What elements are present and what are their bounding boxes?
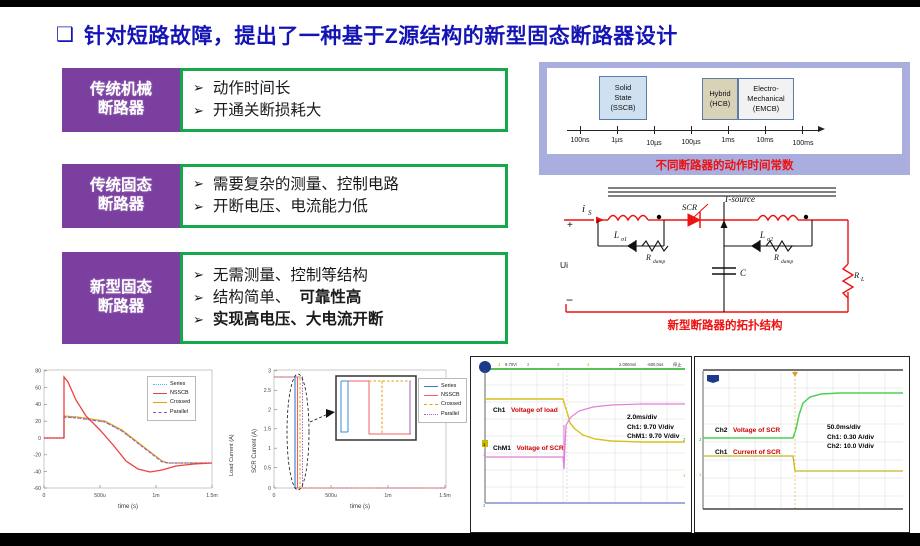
scope1-ch1-text: Voltage of load — [511, 407, 558, 414]
legend-item: NSSCB — [424, 391, 461, 400]
svg-text:-40: -40 — [34, 470, 42, 476]
legend-label: Series — [170, 380, 185, 389]
category-line2: 断路器 — [98, 100, 145, 119]
bullet-point: ➢ 结构简单、可靠性高 — [193, 288, 499, 308]
legend-label: Parallel — [170, 408, 188, 417]
category-label-conventional-solid-state: 传统固态 断路器 — [62, 164, 180, 228]
svg-text:40: 40 — [35, 402, 41, 408]
svg-text:−: − — [566, 293, 573, 307]
svg-text:S: S — [588, 209, 592, 217]
svg-text:500u: 500u — [325, 493, 337, 499]
timing-box-emcb: Electro- Mechanical (EMCB) — [738, 78, 794, 120]
bullet-point: ➢ 无需测量、控制等结构 — [193, 266, 499, 286]
comparison-row-new-solid-state: 新型固态 断路器 ➢ 无需测量、控制等结构 ➢ 结构简单、可靠性高 ➢ 实现高电… — [62, 252, 508, 344]
svg-text:R: R — [645, 253, 651, 262]
scope2-label-ch1: Ch1 Current of SCR — [715, 449, 781, 456]
timing-axis-arrow-icon — [818, 126, 825, 132]
arrow-bullet-icon: ➢ — [193, 80, 204, 97]
hcb-line2: (HCB) — [710, 99, 731, 109]
svg-text:1m: 1m — [384, 493, 391, 499]
svg-text:1.5m: 1.5m — [206, 493, 218, 499]
svg-text:20: 20 — [35, 419, 41, 425]
bullet-point: ➢ 开通关断损耗大 — [193, 101, 499, 121]
svg-text:60: 60 — [35, 385, 41, 391]
category-label-new-solid-state: 新型固态 断路器 — [62, 252, 180, 344]
svg-text:Ui: Ui — [560, 260, 568, 270]
svg-text:i: i — [582, 203, 585, 215]
scope2-ch1-name: Ch1 — [715, 449, 727, 456]
svg-text:9.70V/: 9.70V/ — [505, 362, 518, 367]
svg-text:0: 0 — [43, 493, 46, 499]
axis-tick-label: 100ns — [570, 137, 589, 144]
svg-text:SCR: SCR — [682, 202, 698, 212]
axis-tick — [654, 126, 655, 134]
points-new-solid-state: ➢ 无需测量、控制等结构 ➢ 结构简单、可靠性高 ➢ 实现高电压、大电流开断 — [180, 252, 508, 344]
svg-text:L: L — [613, 230, 619, 240]
chart1-svg: 80 60 40 20 0 -20 -40 -60 0 500u 1m — [10, 356, 232, 533]
scope1-label-ch1: Ch1 Voltage of load — [493, 407, 558, 414]
scope1-label-chm1: ChM1 Voltage of SCR — [493, 445, 564, 452]
legend-item: Crossed — [424, 400, 461, 409]
axis-tick — [691, 126, 692, 134]
axis-tick-label: 1µs — [611, 137, 622, 144]
bullet-point: ➢ 需要复杂的测量、控制电路 — [193, 175, 499, 195]
points-conventional-solid-state: ➢ 需要复杂的测量、控制电路 ➢ 开断电压、电流能力低 — [180, 164, 508, 228]
arrow-bullet-icon: ➢ — [193, 176, 204, 193]
axis-tick — [728, 126, 729, 134]
scope2-ch2-scale: Ch2: 10.0 V/div — [827, 442, 874, 452]
legend-swatch — [153, 393, 167, 394]
legend-swatch — [153, 384, 167, 385]
chart1-ylabel: Load Current (A) — [229, 434, 235, 476]
axis-tick — [802, 126, 803, 134]
sscb-line3: (SSCB) — [610, 103, 635, 113]
scope2-svg: 2 1 — [695, 357, 909, 532]
legend-swatch — [153, 412, 167, 413]
legend-swatch — [424, 386, 438, 387]
svg-text:2: 2 — [268, 407, 271, 413]
legend-swatch — [424, 395, 438, 396]
svg-text:1m: 1m — [152, 493, 159, 499]
svg-text:0: 0 — [38, 436, 41, 442]
scope1-ch1-scale: Ch1: 9.70 V/div — [627, 423, 679, 433]
scope1-chm1-name: ChM1 — [493, 445, 511, 452]
emcb-line2: Mechanical — [747, 94, 784, 104]
scope1-timebase: 2.0ms/div — [627, 413, 679, 423]
svg-text:σ2: σ2 — [767, 237, 773, 243]
scope2-ch1-text: Current of SCR — [733, 449, 781, 456]
points-mechanical: ➢ 动作时间长 ➢ 开通关断损耗大 — [180, 68, 508, 132]
bullet-text-bold: 可靠性高 — [299, 288, 361, 308]
svg-text:-20: -20 — [34, 453, 42, 459]
svg-text:R: R — [853, 270, 860, 280]
legend-item: Series — [153, 380, 190, 389]
axis-tick-label: 1ms — [721, 137, 734, 144]
svg-text:0: 0 — [273, 493, 276, 499]
scope2-label-ch2: Ch2 Voltage of SCR — [715, 427, 780, 434]
category-line1: 传统机械 — [90, 81, 152, 100]
svg-text:2.000ms/: 2.000ms/ — [619, 362, 637, 367]
chart2-ylabel: SCR Current (A) — [252, 429, 258, 473]
bullet-text: 开通关断损耗大 — [213, 101, 322, 121]
axis-tick — [580, 126, 581, 134]
legend-label: NSSCB — [441, 391, 460, 400]
timing-box-sscb: Solid State (SSCB) — [599, 76, 647, 120]
scope2-ch2-name: Ch2 — [715, 427, 727, 434]
bullet-text: 需要复杂的测量、控制电路 — [213, 175, 399, 195]
svg-text:σ1: σ1 — [621, 237, 627, 243]
timing-box-hcb: Hybrid (HCB) — [702, 78, 738, 120]
axis-tick — [617, 126, 618, 134]
scope1-ch1-name: Ch1 — [493, 407, 505, 414]
timing-panel-caption: 不同断路器的动作时间常数 — [539, 157, 910, 173]
timing-axis-line — [567, 130, 820, 131]
arrow-bullet-icon: ➢ — [193, 103, 204, 120]
chart-scr-current: 3 2.5 2 1.5 1 0.5 0 0 500u 1m 1.5m — [238, 356, 464, 533]
svg-text:1.5: 1.5 — [264, 427, 271, 433]
timing-chart-area: Solid State (SSCB) Hybrid (HCB) Electro-… — [547, 68, 902, 154]
bullet-text: 动作时间长 — [213, 79, 291, 99]
legend-item: NSSCB — [153, 389, 190, 398]
svg-text:T-source: T-source — [724, 194, 755, 204]
svg-text:+: + — [567, 220, 573, 231]
legend-item: Parallel — [153, 408, 190, 417]
emcb-line3: (EMCB) — [753, 104, 779, 114]
svg-text:L: L — [759, 230, 765, 240]
axis-tick-label: 100µs — [681, 139, 700, 146]
comparison-row-conventional-solid-state: 传统固态 断路器 ➢ 需要复杂的测量、控制电路 ➢ 开断电压、电流能力低 — [62, 164, 508, 228]
svg-text:3: 3 — [268, 369, 271, 375]
legend-swatch — [424, 414, 438, 415]
emcb-line1: Electro- — [753, 84, 778, 94]
legend-label: NSSCB — [170, 389, 189, 398]
svg-text:-60: -60 — [34, 486, 42, 492]
svg-text:damp: damp — [653, 259, 665, 265]
scope2-timebase: 50.0ms/div — [827, 423, 874, 433]
oscilloscope-screenshot-current: 2 1 Ch2 Voltage of SCR Ch1 Current of SC… — [694, 356, 910, 533]
scope1-chm1-scale: ChM1: 9.70 V/div — [627, 432, 679, 442]
category-line1: 新型固态 — [90, 279, 152, 298]
svg-text:停止: 停止 — [673, 361, 681, 368]
axis-tick — [765, 126, 766, 134]
scope2-settings-info: 50.0ms/div Ch1: 0.30 A/div Ch2: 10.0 V/d… — [827, 423, 874, 452]
legend-label: Crossed — [441, 400, 461, 409]
bullet-text: 开断电压、电流能力低 — [213, 197, 368, 217]
legend-swatch — [424, 404, 438, 405]
chart2-xlabel: time (s) — [350, 504, 370, 510]
arrow-bullet-icon: ➢ — [193, 312, 204, 329]
chart2-legend: Series NSSCB Crossed Parallel — [418, 378, 467, 423]
arrow-bullet-icon: ➢ — [193, 290, 204, 307]
scope1-settings-info: 2.0ms/div Ch1: 9.70 V/div ChM1: 9.70 V/d… — [627, 413, 679, 442]
category-line2: 断路器 — [98, 196, 145, 215]
svg-text:0.5: 0.5 — [264, 465, 271, 471]
title-bullet-icon: ❑ — [56, 25, 74, 45]
axis-tick-label: 10µs — [646, 140, 661, 147]
svg-text:2.5: 2.5 — [264, 388, 271, 394]
legend-label: Parallel — [441, 410, 459, 419]
bullet-text: 实现高电压、大电流开断 — [213, 310, 384, 330]
svg-text:L: L — [860, 277, 865, 283]
bullet-point: ➢ 实现高电压、大电流开断 — [193, 310, 499, 330]
svg-text:damp: damp — [781, 259, 793, 265]
hcb-line1: Hybrid — [709, 89, 730, 99]
sscb-line2: State — [614, 93, 631, 103]
category-label-mechanical: 传统机械 断路器 — [62, 68, 180, 132]
svg-text:0: 0 — [268, 486, 271, 492]
arrow-bullet-icon: ➢ — [193, 267, 204, 284]
axis-tick-label: 100ms — [792, 140, 813, 147]
circuit-diagram-caption: 新型断路器的拓扑结构 — [536, 317, 914, 333]
axis-tick-label: 10ms — [756, 137, 773, 144]
legend-item: Crossed — [153, 398, 190, 407]
page-title: 针对短路故障，提出了一种基于Z源结构的新型固态断路器设计 — [84, 20, 678, 50]
scope2-ch2-text: Voltage of SCR — [733, 427, 780, 434]
legend-item: Parallel — [424, 410, 461, 419]
chart-load-current: 80 60 40 20 0 -20 -40 -60 0 500u 1m — [10, 356, 232, 533]
category-line2: 断路器 — [98, 298, 145, 317]
category-line1: 传统固态 — [90, 177, 152, 196]
svg-text:500u: 500u — [94, 493, 106, 499]
chart1-xlabel: time (s) — [118, 504, 138, 510]
svg-text:1: 1 — [268, 446, 271, 452]
arrow-bullet-icon: ➢ — [193, 199, 204, 216]
bullet-text-plain: 结构简单、 — [213, 288, 291, 308]
legend-label: Crossed — [170, 398, 190, 407]
legend-swatch — [153, 402, 167, 403]
svg-text:-600.0us: -600.0us — [647, 362, 663, 367]
slide-title: ❑ 针对短路故障，提出了一种基于Z源结构的新型固态断路器设计 — [56, 18, 896, 52]
scope1-chm1-text: Voltage of SCR — [516, 445, 563, 452]
legend-label: Series — [441, 382, 456, 391]
scope2-ch1-scale: Ch1: 0.30 A/div — [827, 433, 874, 443]
top-black-band — [0, 0, 920, 7]
sscb-line1: Solid — [615, 83, 631, 93]
bullet-text: 无需测量、控制等结构 — [213, 266, 368, 286]
svg-text:C: C — [740, 268, 747, 278]
bullet-point: ➢ 开断电压、电流能力低 — [193, 197, 499, 217]
bottom-black-band — [0, 533, 920, 546]
svg-text:R: R — [773, 253, 779, 262]
svg-text:80: 80 — [35, 369, 41, 375]
oscilloscope-screenshot-voltage: 1 9.70V/ 2 3 4 2.000ms/ -600.0us 停止 — [470, 356, 692, 533]
bullet-point: ➢ 动作时间长 — [193, 79, 499, 99]
legend-item: Series — [424, 382, 461, 391]
svg-text:1.5m: 1.5m — [439, 493, 451, 499]
chart1-legend: Series NSSCB Crossed Parallel — [147, 376, 196, 421]
comparison-row-mechanical: 传统机械 断路器 ➢ 动作时间长 ➢ 开通关断损耗大 — [62, 68, 508, 132]
